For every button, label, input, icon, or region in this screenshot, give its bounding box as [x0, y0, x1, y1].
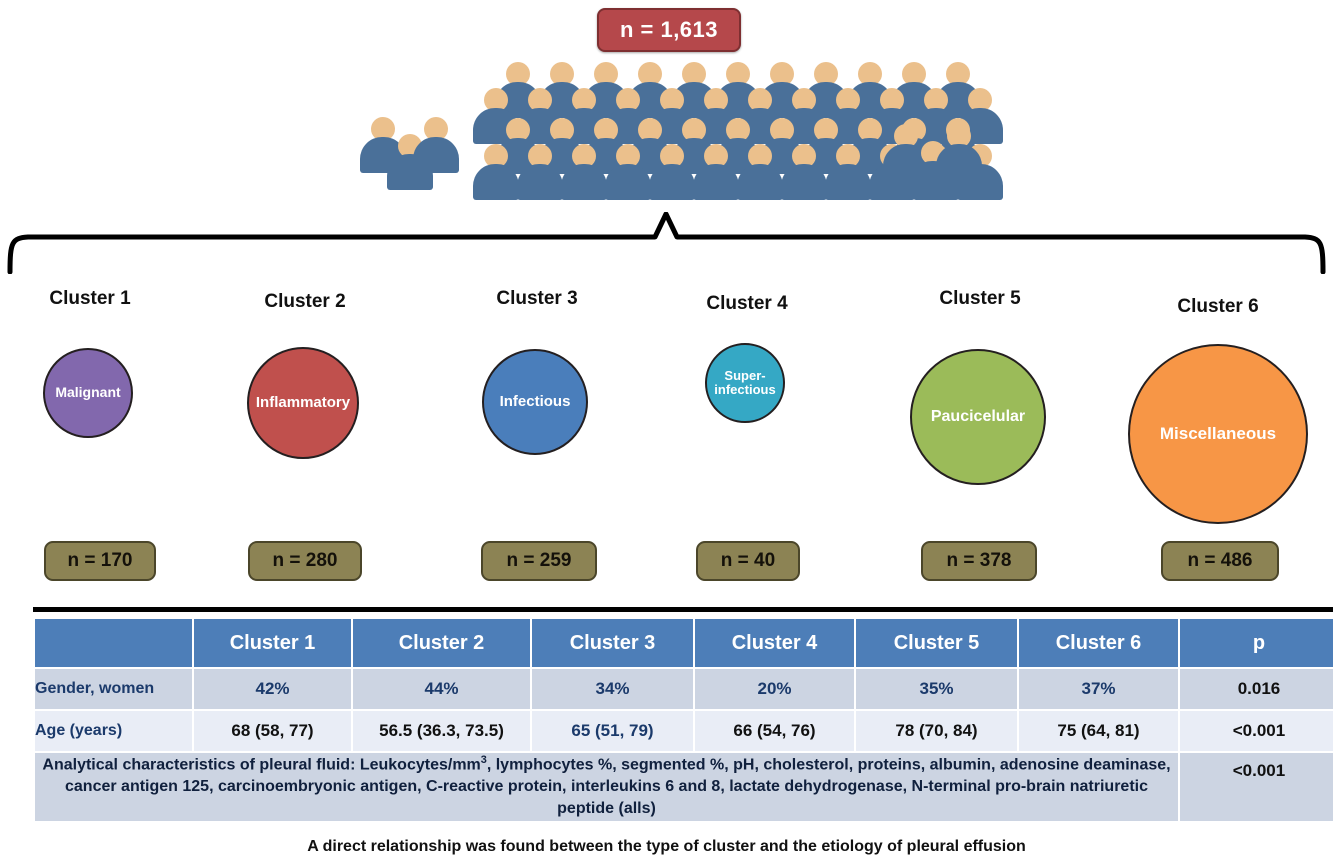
cell-gender-cluster-1: 42% — [194, 669, 351, 709]
people-group-icon — [385, 62, 950, 202]
person-body — [737, 164, 783, 200]
cluster-bubble-label-3: Infectious — [500, 394, 571, 410]
cluster-bubble-label-1: Malignant — [55, 385, 120, 400]
cell-age-cluster-5: 78 (70, 84) — [856, 711, 1017, 751]
table-header-cluster-6: Cluster 6 — [1019, 619, 1178, 667]
table-row: Age (years) 68 (58, 77) 56.5 (36.3, 73.5… — [35, 711, 1333, 751]
cluster-bubble-label-6: Miscellaneous — [1160, 425, 1276, 443]
cluster-n-label-4: n = 40 — [721, 550, 775, 572]
analytic-characteristics-text: Analytical characteristics of pleural fl… — [35, 753, 1178, 821]
cell-age-cluster-6: 75 (64, 81) — [1019, 711, 1178, 751]
cell-gender-cluster-6: 37% — [1019, 669, 1178, 709]
cluster-label-6: Cluster 6 — [1148, 296, 1288, 318]
person-body — [936, 144, 982, 180]
total-n-label: n = 1,613 — [620, 17, 718, 43]
person-icon — [936, 124, 982, 180]
cluster-n-badge-5: n = 378 — [921, 541, 1037, 581]
person-body — [649, 164, 695, 200]
cell-gender-p: 0.016 — [1180, 669, 1333, 709]
cluster-bubble-infectious: Infectious — [482, 349, 588, 455]
cell-analytic-p: <0.001 — [1180, 753, 1333, 821]
cluster-n-label-1: n = 170 — [68, 550, 133, 572]
cluster-bubble-malignant: Malignant — [43, 348, 133, 438]
table-header-blank — [35, 619, 192, 667]
person-body — [693, 164, 739, 200]
table-header-cluster-2: Cluster 2 — [353, 619, 530, 667]
cluster-bubble-inflammatory: Inflammatory — [247, 347, 359, 459]
person-icon — [517, 144, 563, 200]
cluster-bubble-label-5: Paucicelular — [931, 408, 1025, 425]
table-header-row: Cluster 1 Cluster 2 Cluster 3 Cluster 4 … — [35, 619, 1333, 667]
cluster-n-label-2: n = 280 — [273, 550, 338, 572]
cluster-bubble-miscellaneous: Miscellaneous — [1128, 344, 1308, 524]
cell-age-cluster-2: 56.5 (36.3, 73.5) — [353, 711, 530, 751]
cell-gender-cluster-5: 35% — [856, 669, 1017, 709]
person-icon — [693, 144, 739, 200]
cluster-label-5: Cluster 5 — [910, 288, 1050, 310]
cluster-bubble-paucicelular: Paucicelular — [910, 349, 1046, 485]
table-row-analytic: Analytical characteristics of pleural fl… — [35, 753, 1333, 821]
cluster-label-3: Cluster 3 — [467, 288, 607, 310]
cluster-n-badge-2: n = 280 — [248, 541, 362, 581]
cluster-bubble-label-2: Inflammatory — [256, 395, 350, 411]
cluster-n-badge-3: n = 259 — [481, 541, 597, 581]
total-n-badge: n = 1,613 — [597, 8, 741, 52]
cluster-n-badge-6: n = 486 — [1161, 541, 1279, 581]
table-header-p: p — [1180, 619, 1333, 667]
person-body — [781, 164, 827, 200]
person-body — [473, 164, 519, 200]
cluster-bubble-label-4: Super-infectious — [713, 369, 777, 397]
person-icon — [473, 144, 519, 200]
figure-caption: A direct relationship was found between … — [0, 838, 1333, 856]
cell-gender-cluster-3: 34% — [532, 669, 693, 709]
summary-table: Cluster 1 Cluster 2 Cluster 3 Cluster 4 … — [33, 617, 1333, 823]
cluster-n-label-6: n = 486 — [1188, 550, 1253, 572]
table-header-cluster-4: Cluster 4 — [695, 619, 854, 667]
table-header-cluster-5: Cluster 5 — [856, 619, 1017, 667]
person-body — [561, 164, 607, 200]
cluster-label-4: Cluster 4 — [677, 293, 817, 315]
row-label-gender: Gender, women — [35, 669, 192, 709]
person-icon — [649, 144, 695, 200]
cluster-n-badge-1: n = 170 — [44, 541, 156, 581]
cell-gender-cluster-4: 20% — [695, 669, 854, 709]
cell-age-p: <0.001 — [1180, 711, 1333, 751]
cluster-label-1: Cluster 1 — [20, 288, 160, 310]
person-icon — [413, 117, 459, 173]
person-icon — [737, 144, 783, 200]
analytic-text-part1: Analytical characteristics of pleural fl… — [42, 756, 480, 773]
cluster-n-label-3: n = 259 — [507, 550, 572, 572]
person-body — [413, 137, 459, 173]
cluster-bubble-super-infectious: Super-infectious — [705, 343, 785, 423]
cell-age-cluster-3: 65 (51, 79) — [532, 711, 693, 751]
table-row: Gender, women 42% 44% 34% 20% 35% 37% 0.… — [35, 669, 1333, 709]
cell-age-cluster-1: 68 (58, 77) — [194, 711, 351, 751]
cell-age-cluster-4: 66 (54, 76) — [695, 711, 854, 751]
cluster-n-label-5: n = 378 — [947, 550, 1012, 572]
cluster-n-badge-4: n = 40 — [696, 541, 800, 581]
cell-gender-cluster-2: 44% — [353, 669, 530, 709]
person-icon — [781, 144, 827, 200]
person-icon — [825, 144, 871, 200]
person-icon — [605, 144, 651, 200]
curly-brace-icon — [0, 212, 1333, 274]
person-icon — [561, 144, 607, 200]
person-body — [605, 164, 651, 200]
table-top-rule — [33, 607, 1333, 612]
table-header-cluster-1: Cluster 1 — [194, 619, 351, 667]
cluster-label-2: Cluster 2 — [235, 291, 375, 313]
person-body — [517, 164, 563, 200]
row-label-age: Age (years) — [35, 711, 192, 751]
person-body — [825, 164, 871, 200]
table-header-cluster-3: Cluster 3 — [532, 619, 693, 667]
